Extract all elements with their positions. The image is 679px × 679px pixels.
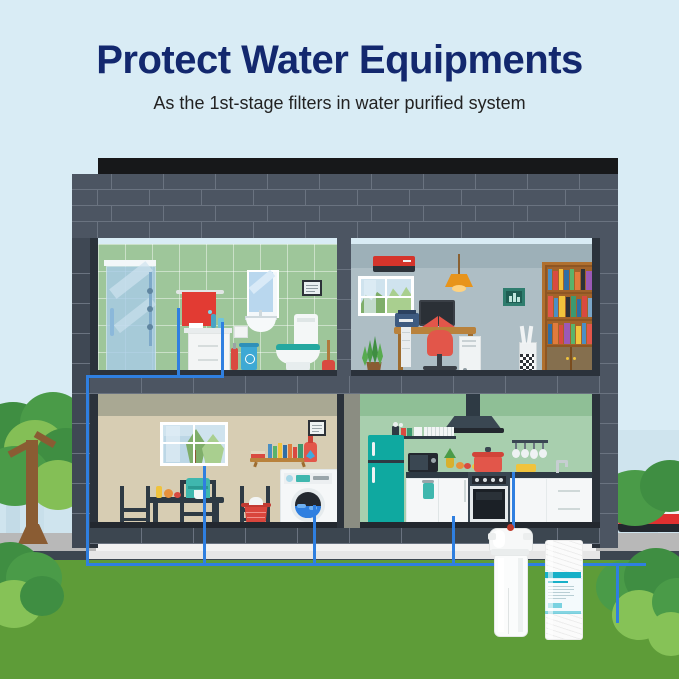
header: Protect Water Equipments As the 1st-stag…: [0, 0, 679, 130]
room-bathroom: [98, 244, 337, 376]
room-dining-laundry: [98, 394, 337, 528]
pipe-supply-inlet: [616, 563, 619, 623]
pressure-relief-button: [507, 524, 514, 531]
roof-cap: [98, 158, 618, 174]
room-kitchen: [360, 394, 592, 528]
pipe-basin: [221, 322, 224, 378]
sediment-cartridge: [545, 540, 581, 638]
pipe-bathroom-horizontal: [177, 375, 224, 378]
upper-divider-wall: [337, 238, 351, 376]
pipe-shower: [177, 308, 180, 378]
pipe-main-riser: [86, 375, 89, 565]
cleaner-bottle: [231, 348, 238, 370]
pipe-washing-machine: [313, 505, 316, 566]
pipe-top-branch: [86, 375, 179, 378]
filter-housing: [487, 528, 533, 638]
pipe-refrigerator: [452, 516, 455, 566]
scene-root: Protect Water Equipments As the 1st-stag…: [0, 0, 679, 679]
mid-floor: [90, 376, 600, 394]
page-title: Protect Water Equipments: [0, 0, 679, 82]
roof-parapet: [72, 174, 618, 238]
page-subtitle: As the 1st-stage filters in water purifi…: [0, 82, 679, 114]
butter-dish: [516, 464, 536, 472]
toilet-paper: [234, 326, 248, 338]
pipe-coffee-machine: [203, 466, 206, 566]
room-office: [351, 244, 592, 376]
lower-divider-wall: [344, 394, 360, 528]
house-right-wall: [600, 238, 618, 548]
